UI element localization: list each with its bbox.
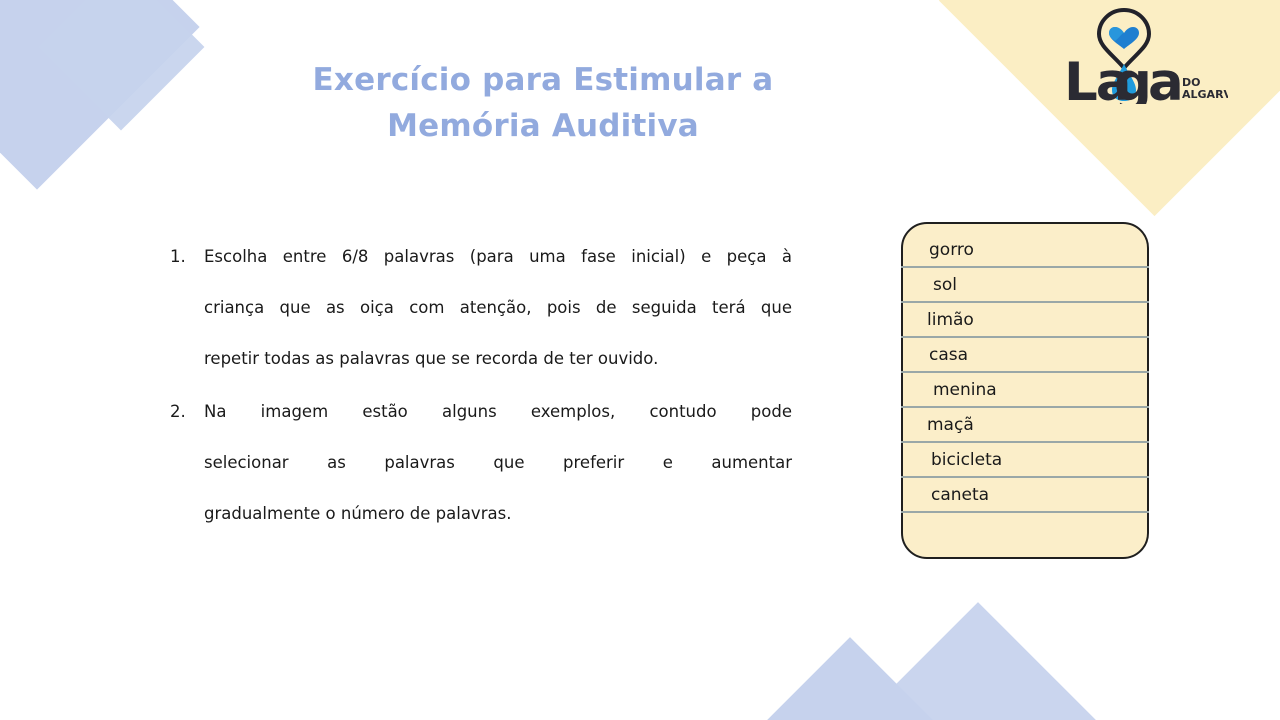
page-title: Exercício para Estimular a Memória Audit… [190, 57, 896, 149]
list-item: sol [901, 268, 1149, 303]
decorative-diamond-bottom-right [828, 602, 1128, 720]
list-item: maçã [901, 408, 1149, 443]
list-item-number: 1. [170, 231, 204, 282]
page-title-line2: Memória Auditiva [190, 103, 896, 149]
lagoa-logo: La g a DO ALGARVE [1062, 6, 1228, 104]
list-item-line: repetir todas as palavras que se recorda… [204, 333, 792, 384]
word-label: menina [933, 380, 997, 400]
list-item: caneta [901, 478, 1149, 513]
list-item-text: Na imagem estão alguns exemplos, contudo… [204, 386, 792, 539]
word-label: bicicleta [931, 450, 1002, 470]
list-item: gorro [901, 233, 1149, 268]
logo-subtitle-algarve: ALGARVE [1182, 88, 1228, 101]
list-item: limão [901, 303, 1149, 338]
page-title-line1: Exercício para Estimular a [190, 57, 896, 103]
decorative-diamond-top-left-large [0, 0, 200, 190]
word-label: sol [933, 275, 957, 295]
list-item-line: criança que as oiça com atenção, pois de… [204, 282, 792, 333]
word-label: caneta [931, 485, 989, 505]
list-item: menina [901, 373, 1149, 408]
word-list-rows: gorro sol limão casa menina maçã bicicle… [901, 222, 1149, 559]
list-item: casa [901, 338, 1149, 373]
svg-text:g: g [1114, 52, 1150, 104]
list-item-number: 2. [170, 386, 204, 437]
decorative-diamond-top-left-small [38, 0, 205, 130]
word-label: maçã [927, 415, 974, 435]
list-item-line: Escolha entre 6/8 palavras (para uma fas… [204, 231, 792, 282]
list-item-text: Escolha entre 6/8 palavras (para uma fas… [204, 231, 792, 384]
list-item: 1. Escolha entre 6/8 palavras (para uma … [170, 231, 792, 384]
word-label: casa [929, 345, 968, 365]
list-item-line: gradualmente o número de palavras. [204, 488, 792, 539]
list-item-line: Na imagem estão alguns exemplos, contudo… [204, 386, 792, 437]
word-label: limão [927, 310, 974, 330]
word-label: gorro [929, 240, 974, 260]
list-item: 2. Na imagem estão alguns exemplos, cont… [170, 386, 792, 539]
list-item-empty [901, 513, 1149, 548]
decorative-diamond-bottom-left [765, 637, 935, 720]
list-item-line: selecionar as palavras que preferir e au… [204, 437, 792, 488]
svg-text:a: a [1148, 52, 1182, 104]
list-item: bicicleta [901, 443, 1149, 478]
instructions-list: 1. Escolha entre 6/8 palavras (para uma … [170, 231, 792, 541]
